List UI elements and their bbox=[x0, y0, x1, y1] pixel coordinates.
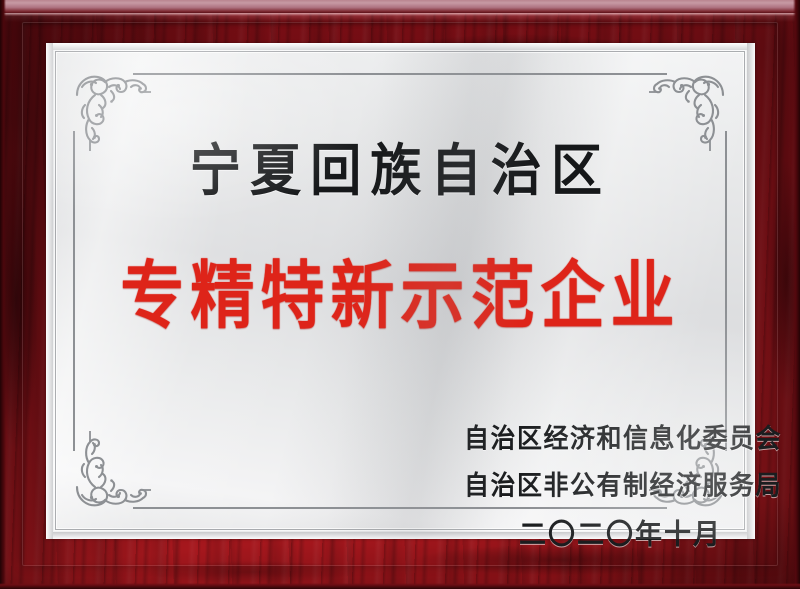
award-headline: 专精特新示范企业 bbox=[35, 259, 765, 332]
region-title: 宁夏回族自治区 bbox=[39, 143, 762, 199]
plaque-text-block: 宁夏回族自治区 专精特新示范企业 自治区经济和信息化委员会 自治区非公有制经济服… bbox=[46, 43, 755, 539]
issuer-line-1: 自治区经济和信息化委员会 bbox=[464, 425, 782, 452]
award-plaque: 宁夏回族自治区 专精特新示范企业 自治区经济和信息化委员会 自治区非公有制经济服… bbox=[0, 0, 800, 589]
issue-date: 二〇二〇年十月 bbox=[519, 520, 722, 548]
frame-bottom-edge bbox=[0, 583, 800, 589]
issuer-line-2: 自治区非公有制经济服务局 bbox=[464, 472, 782, 499]
frame-left-edge bbox=[0, 0, 6, 589]
frame-top-bevel bbox=[0, 0, 800, 13]
frame-top-highlight bbox=[0, 13, 800, 16]
silver-plate: 宁夏回族自治区 专精特新示范企业 自治区经济和信息化委员会 自治区非公有制经济服… bbox=[46, 43, 755, 539]
frame-right-edge bbox=[793, 0, 800, 589]
